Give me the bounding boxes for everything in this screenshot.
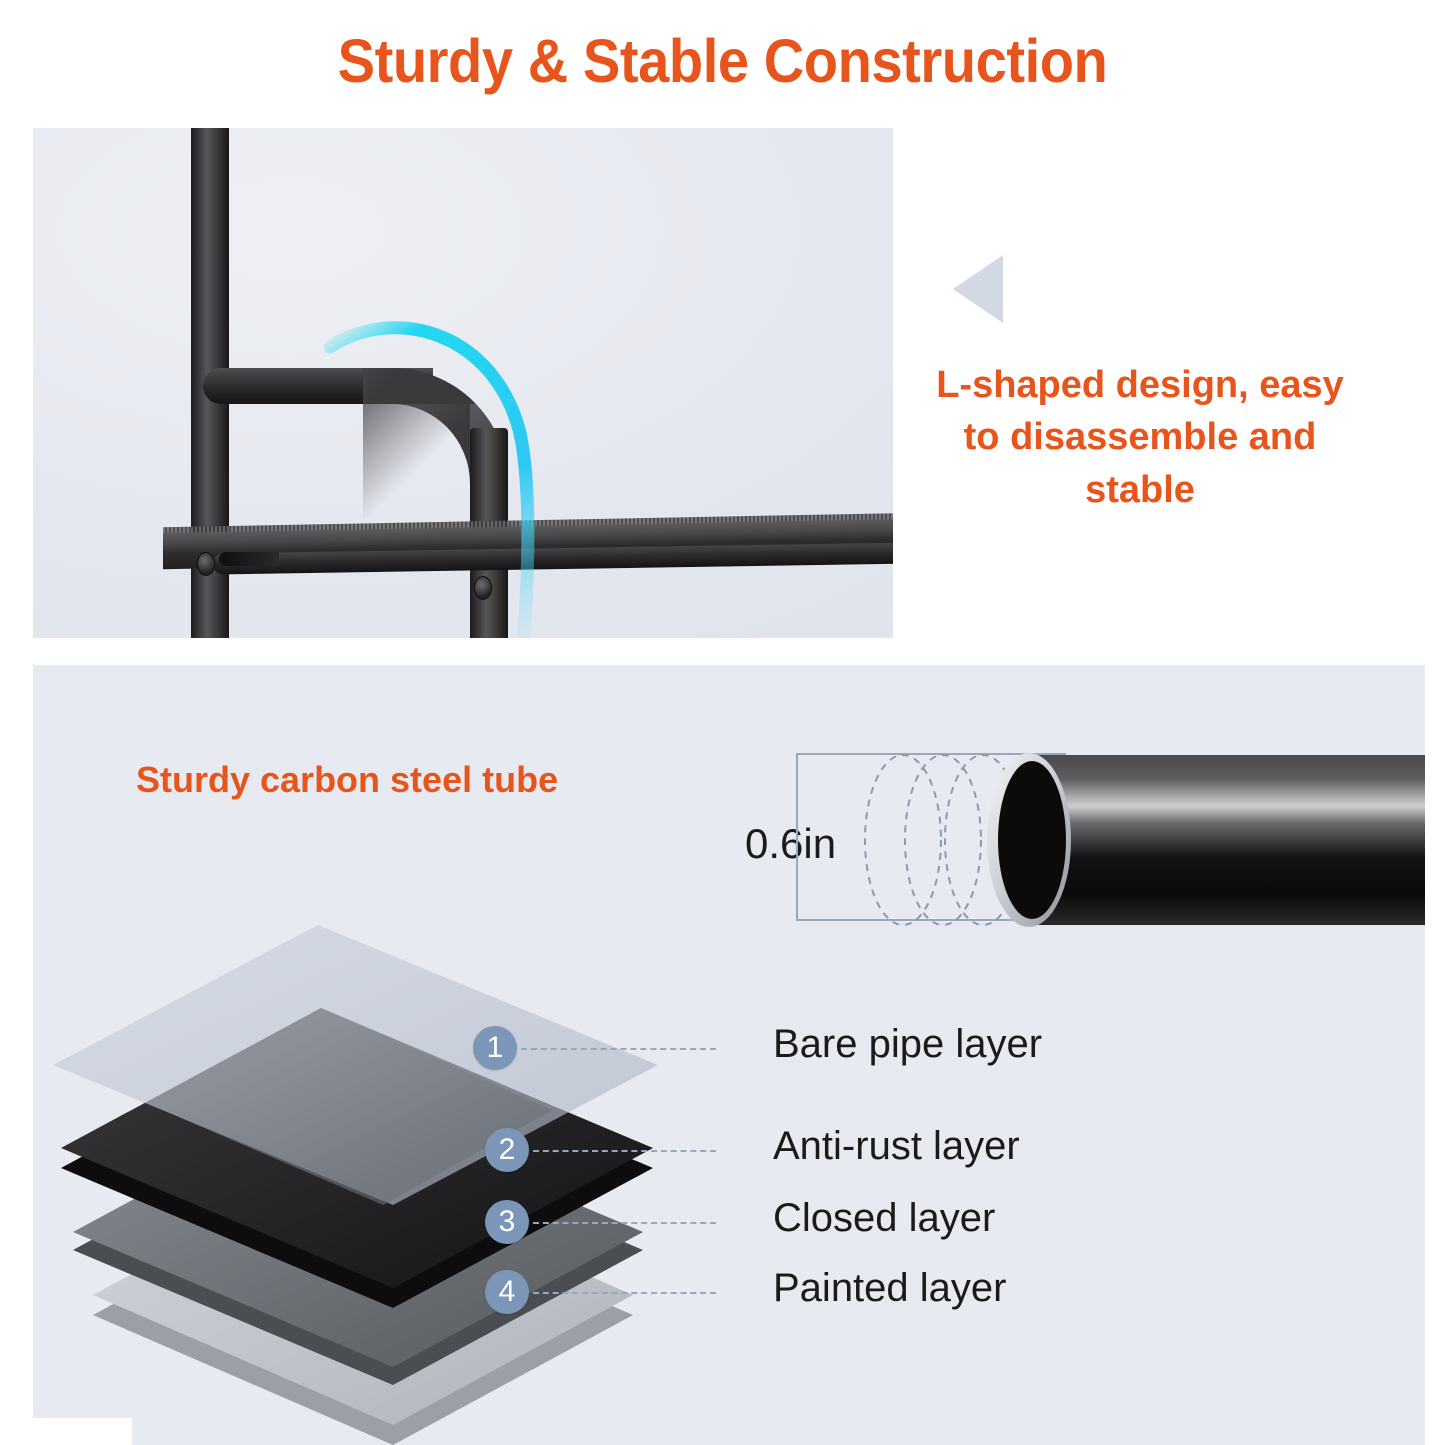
- layer-badge-1: 1: [473, 1026, 517, 1070]
- leader-line-4: [533, 1292, 716, 1294]
- layer-badge-3: 3: [485, 1200, 529, 1244]
- layer-plates-illustration: [33, 920, 793, 1445]
- bottom-panel: Sturdy carbon steel tube 0.6in: [33, 665, 1425, 1445]
- leader-line-3: [533, 1222, 716, 1224]
- layer-label-3: Closed layer: [773, 1196, 995, 1241]
- steel-pipe-illustration: [833, 745, 1425, 935]
- rack-screw-right: [474, 576, 492, 600]
- callout-text: L-shaped design, easy to disassemble and…: [920, 359, 1360, 516]
- left-triangle-icon: [953, 255, 1003, 323]
- layer-label-1: Bare pipe layer: [773, 1022, 1042, 1067]
- layer-label-4: Painted layer: [773, 1266, 1006, 1311]
- top-panel: [33, 128, 893, 638]
- layer-badge-2: 2: [485, 1128, 529, 1172]
- panel-corner-notch: [33, 1418, 132, 1445]
- leader-line-1: [521, 1048, 716, 1050]
- top-callout: L-shaped design, easy to disassemble and…: [920, 255, 1420, 516]
- rack-screw-left: [197, 552, 215, 576]
- page-title: Sturdy & Stable Construction: [58, 26, 1387, 96]
- layer-badge-4: 4: [485, 1270, 529, 1314]
- coating-layer-stack: 1 2 3 4 Bare pipe layer Anti-rust layer …: [33, 920, 793, 1445]
- layer-label-2: Anti-rust layer: [773, 1124, 1020, 1169]
- rack-shelf-rod-tip: [219, 552, 279, 566]
- leader-line-2: [533, 1150, 716, 1152]
